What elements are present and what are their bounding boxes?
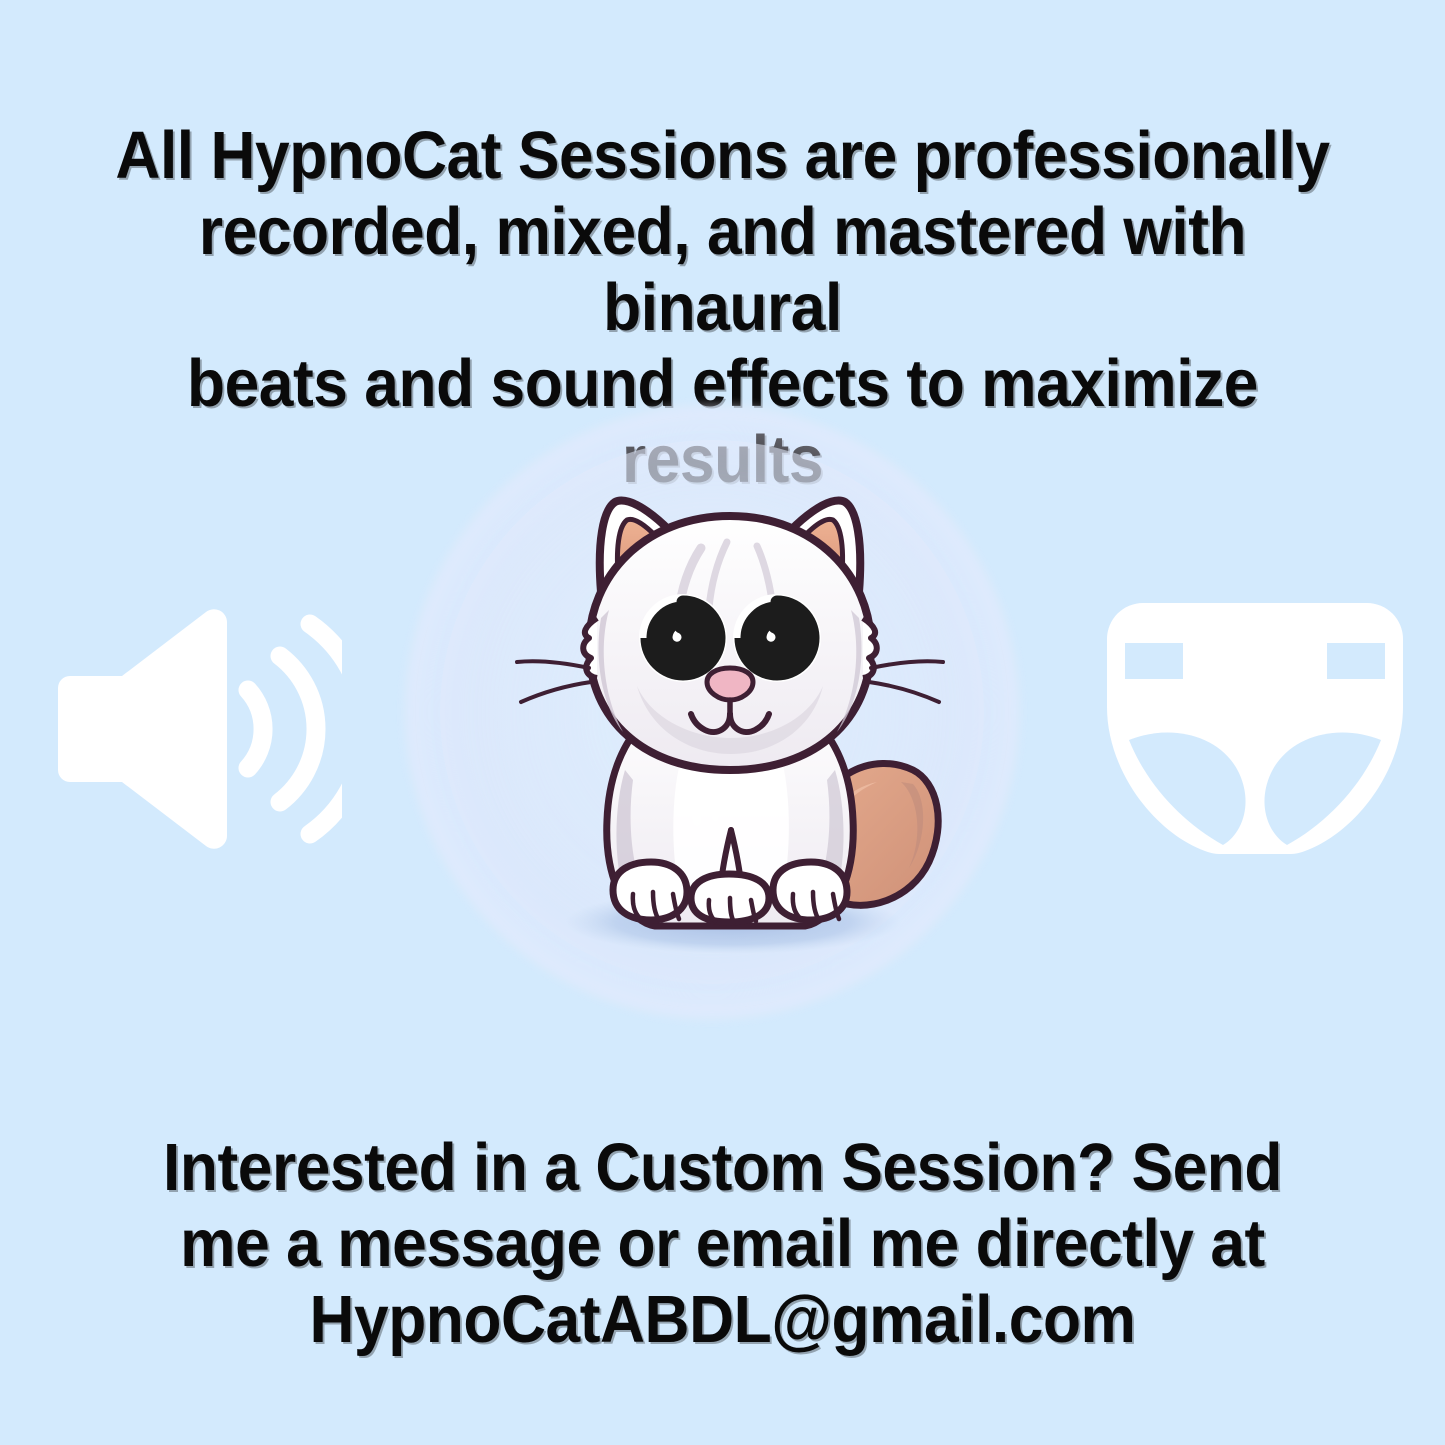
spiral-eye-left (639, 594, 727, 682)
hypnocat-mascot (505, 470, 955, 960)
diaper-icon (1105, 595, 1405, 863)
contact-cta-text: Interested in a Custom Session? Send me … (51, 1130, 1395, 1358)
spiral-eye-right (733, 594, 821, 682)
promo-card: All HypnoCat Sessions are professionally… (0, 0, 1445, 1445)
speaker-volume-icon (52, 598, 342, 860)
page-title: All HypnoCat Sessions are professionally… (51, 118, 1395, 498)
